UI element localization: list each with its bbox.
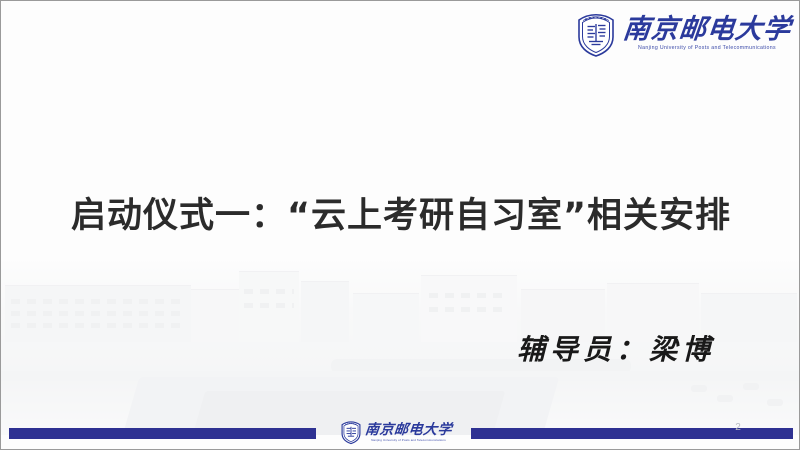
university-name-en: Nanjing University of Posts and Telecomm…	[623, 46, 791, 51]
university-wordmark: 南京邮电大学 Nanjing University of Posts and T…	[623, 16, 791, 51]
university-wordmark: 南京邮电大学 Nanjing University of Posts and T…	[365, 423, 452, 442]
university-name-cn: 南京邮电大学	[622, 16, 793, 43]
photo-building	[301, 281, 349, 342]
university-shield-icon	[575, 11, 617, 57]
photo-window-row	[11, 323, 183, 328]
photo-car	[691, 385, 707, 392]
photo-car	[767, 399, 783, 406]
photo-window-row	[429, 293, 509, 298]
slide-title: 启动仪式一：“云上考研自习室”相关安排	[1, 187, 800, 238]
photo-building	[191, 289, 243, 342]
page-number: 2	[727, 422, 749, 433]
photo-window-row	[244, 303, 294, 308]
photo-window-row	[244, 289, 294, 294]
presentation-slide: 南京邮电大学 Nanjing University of Posts and T…	[0, 0, 800, 450]
university-logo-footer: 南京邮电大学 Nanjing University of Posts and T…	[340, 417, 452, 447]
photo-window-row	[429, 307, 509, 312]
footer-bar-left	[9, 428, 316, 439]
university-name-cn: 南京邮电大学	[364, 423, 452, 437]
photo-window-row	[11, 299, 183, 304]
photo-car	[717, 395, 733, 402]
photo-window-row	[11, 311, 183, 316]
presenter-line: 辅导员：梁博	[471, 328, 761, 368]
photo-building	[353, 293, 419, 342]
university-logo-top: 南京邮电大学 Nanjing University of Posts and T…	[575, 11, 791, 57]
university-shield-icon	[340, 417, 362, 447]
university-name-en: Nanjing University of Posts and Telecomm…	[365, 439, 452, 442]
photo-car	[743, 383, 759, 390]
